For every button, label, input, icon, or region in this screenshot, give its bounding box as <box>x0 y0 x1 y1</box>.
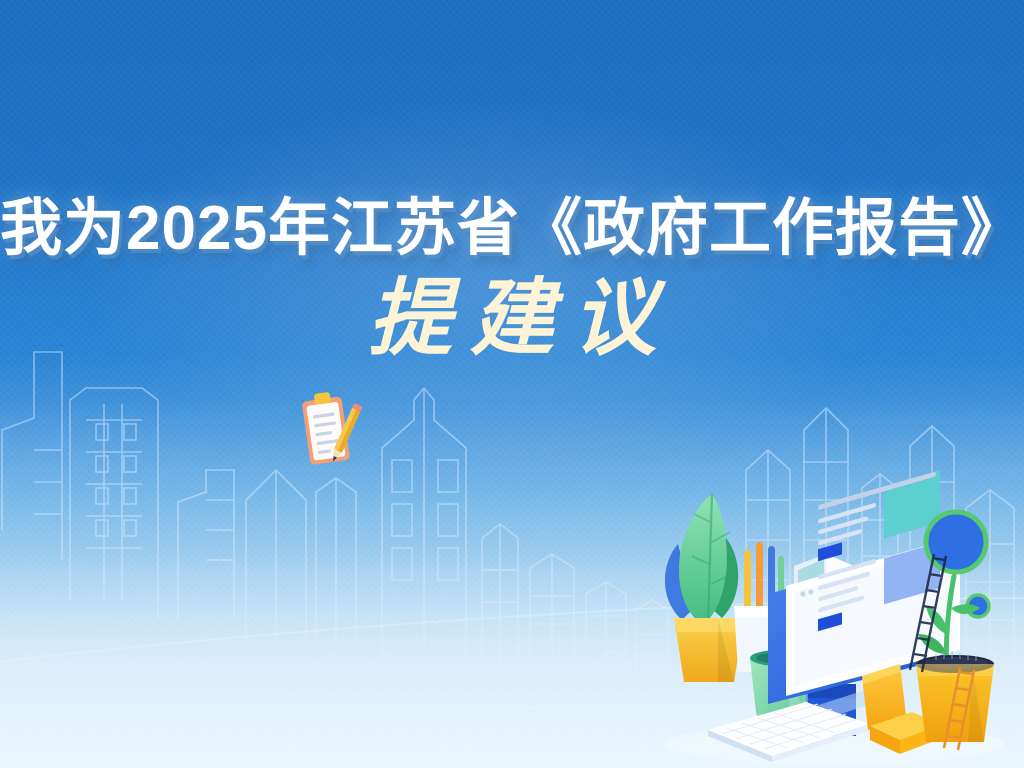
subtitle-wrap: 提建议 <box>0 276 1024 380</box>
headline: 我为2025年江苏省《政府工作报告》 提建议 <box>0 196 1024 380</box>
page-title: 我为2025年江苏省《政府工作报告》 <box>0 196 1024 262</box>
page-subtitle: 提建议 <box>350 276 674 360</box>
potted-leaf-plant <box>665 494 744 682</box>
banner-root: 我为2025年江苏省《政府工作报告》 提建议 <box>0 0 1024 768</box>
desk-workspace-illustration <box>648 458 1020 768</box>
clipboard-pencil-icon <box>300 388 362 474</box>
